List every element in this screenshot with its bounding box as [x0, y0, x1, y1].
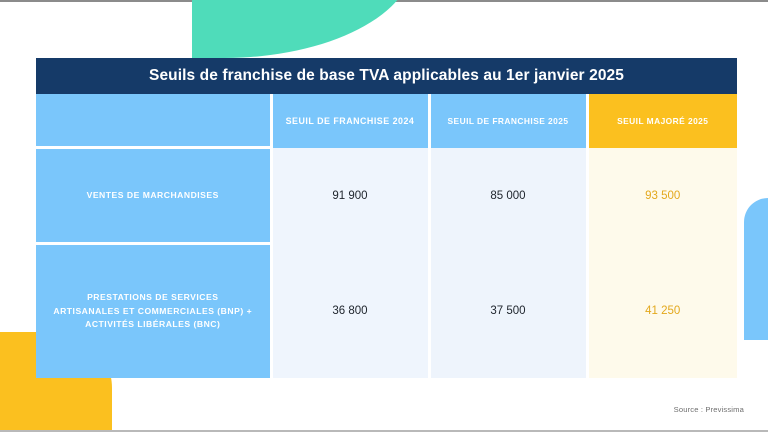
row-label-line-1: PRESTATIONS DE SERVICES	[42, 291, 264, 305]
teal-quarter-circle-decoration	[192, 0, 414, 58]
cell-prestations-seuil-majore-2025: 41 250	[587, 244, 737, 378]
cell-prestations-seuil-2025: 37 500	[429, 244, 587, 378]
column-header-seuil-majore-2025: SEUIL MAJORÉ 2025	[587, 94, 737, 148]
table-title: Seuils de franchise de base TVA applicab…	[36, 58, 737, 94]
row-label-prestations-de-services: PRESTATIONS DE SERVICES ARTISANALES ET C…	[36, 244, 271, 378]
row-label-line-3: ACTIVITÉS LIBÉRALES (BNC)	[42, 318, 264, 332]
table-header-row: SEUIL DE FRANCHISE 2024 SEUIL DE FRANCHI…	[36, 94, 737, 148]
cell-ventes-seuil-majore-2025: 93 500	[587, 148, 737, 244]
row-label-line-2: ARTISANALES ET COMMERCIALES (BNP) +	[42, 305, 264, 319]
column-header-seuil-franchise-2025: SEUIL DE FRANCHISE 2025	[429, 94, 587, 148]
source-credit: Source : Previssima	[674, 405, 744, 414]
table-corner-cell	[36, 94, 271, 148]
cell-ventes-seuil-2024: 91 900	[271, 148, 429, 244]
blue-rounded-decoration-right	[744, 198, 768, 340]
table-row: VENTES DE MARCHANDISES 91 900 85 000 93 …	[36, 148, 737, 244]
vat-thresholds-table: Seuils de franchise de base TVA applicab…	[36, 58, 737, 378]
infographic-canvas: Seuils de franchise de base TVA applicab…	[0, 0, 768, 432]
row-label-ventes-de-marchandises: VENTES DE MARCHANDISES	[36, 148, 271, 244]
column-header-seuil-franchise-2024: SEUIL DE FRANCHISE 2024	[271, 94, 429, 148]
table-row: PRESTATIONS DE SERVICES ARTISANALES ET C…	[36, 244, 737, 378]
cell-prestations-seuil-2024: 36 800	[271, 244, 429, 378]
thresholds-grid: SEUIL DE FRANCHISE 2024 SEUIL DE FRANCHI…	[36, 94, 737, 378]
cell-ventes-seuil-2025: 85 000	[429, 148, 587, 244]
